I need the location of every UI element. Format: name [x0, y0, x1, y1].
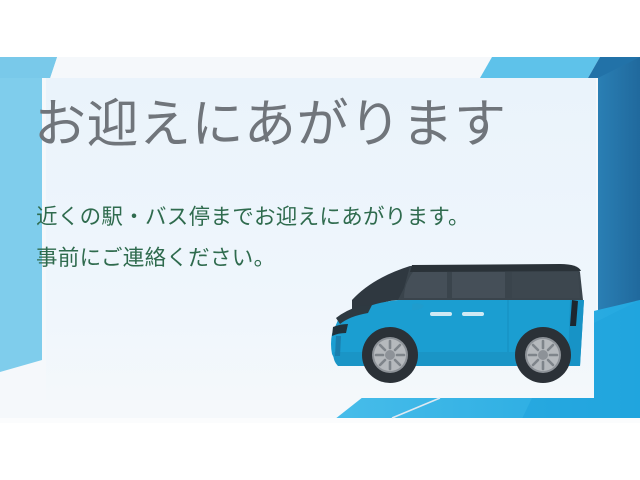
vehicle-roof-strip	[410, 264, 581, 272]
banner-artwork	[0, 0, 640, 480]
banner-canvas: お迎えにあがります 近くの駅・バス停までお迎えにあがります。 事前にご連絡くださ…	[0, 0, 640, 480]
vehicle-front-wheel	[362, 327, 418, 383]
vehicle-rear-wheel	[515, 327, 571, 383]
vehicle-rear-window	[512, 272, 580, 298]
vehicle-front-window	[404, 272, 447, 298]
top-right-light-band	[480, 57, 600, 78]
vehicle-front-light-strip	[335, 336, 341, 356]
vehicle-mid-window	[452, 272, 505, 298]
vehicle-door-handle-front	[430, 312, 452, 316]
left-accent-top-notch	[0, 57, 57, 78]
bottom-white-area	[0, 423, 640, 480]
vehicle-door-handle-rear	[462, 312, 484, 316]
